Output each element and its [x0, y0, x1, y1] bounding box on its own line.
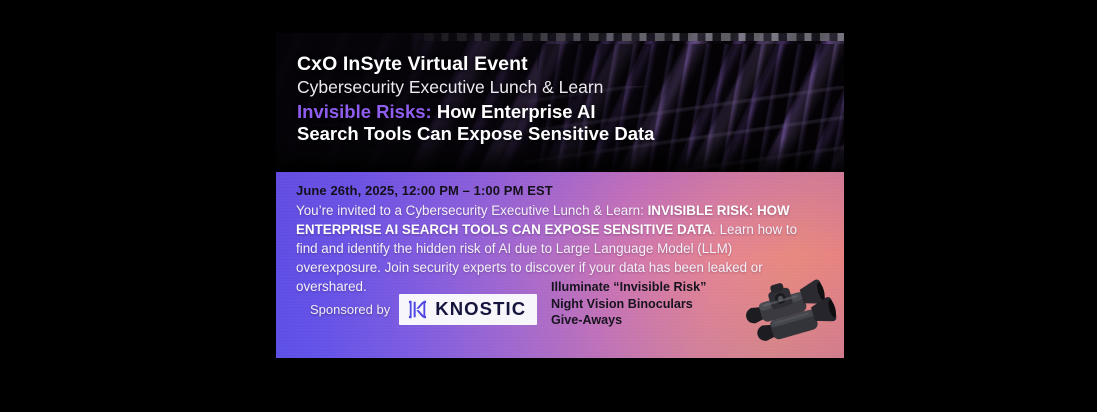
- banner-hero-section: CxO InSyte Virtual Event Cybersecurity E…: [276, 33, 844, 172]
- event-datetime: June 26th, 2025, 12:00 PM – 1:00 PM EST: [296, 183, 824, 198]
- banner-body-section: June 26th, 2025, 12:00 PM – 1:00 PM EST …: [276, 172, 844, 358]
- hero-text-block: CxO InSyte Virtual Event Cybersecurity E…: [297, 53, 830, 145]
- giveaway-group: Illuminate “Invisible Risk” Night Vision…: [551, 279, 841, 351]
- headline-accent-text: Invisible Risks:: [297, 101, 432, 122]
- knostic-wordmark: KNOSTIC: [435, 300, 526, 319]
- knostic-logo[interactable]: KNOSTIC: [399, 294, 537, 325]
- sponsor-group: Sponsored by: [310, 294, 537, 325]
- knostic-k-mark-icon: [407, 299, 428, 320]
- event-subtitle: Cybersecurity Executive Lunch & Learn: [297, 77, 830, 98]
- description-intro: You’re invited to a Cybersecurity Execut…: [296, 203, 648, 218]
- giveaway-line-1: Illuminate “Invisible Risk”: [551, 279, 747, 296]
- event-series-title: CxO InSyte Virtual Event: [297, 53, 830, 76]
- event-headline-line-1: Invisible Risks: How Enterprise AI: [297, 101, 830, 123]
- headline-rest-text: How Enterprise AI: [437, 101, 596, 122]
- giveaway-line-3: Give-Aways: [551, 312, 747, 329]
- event-promo-banner: CxO InSyte Virtual Event Cybersecurity E…: [276, 33, 844, 358]
- night-vision-binoculars-icon: [739, 273, 843, 347]
- giveaway-line-2: Night Vision Binoculars: [551, 296, 747, 313]
- giveaway-text-block: Illuminate “Invisible Risk” Night Vision…: [551, 279, 747, 329]
- banner-footer-row: Sponsored by: [276, 276, 844, 352]
- sponsored-by-label: Sponsored by: [310, 302, 390, 317]
- event-headline-line-2: Search Tools Can Expose Sensitive Data: [297, 123, 830, 145]
